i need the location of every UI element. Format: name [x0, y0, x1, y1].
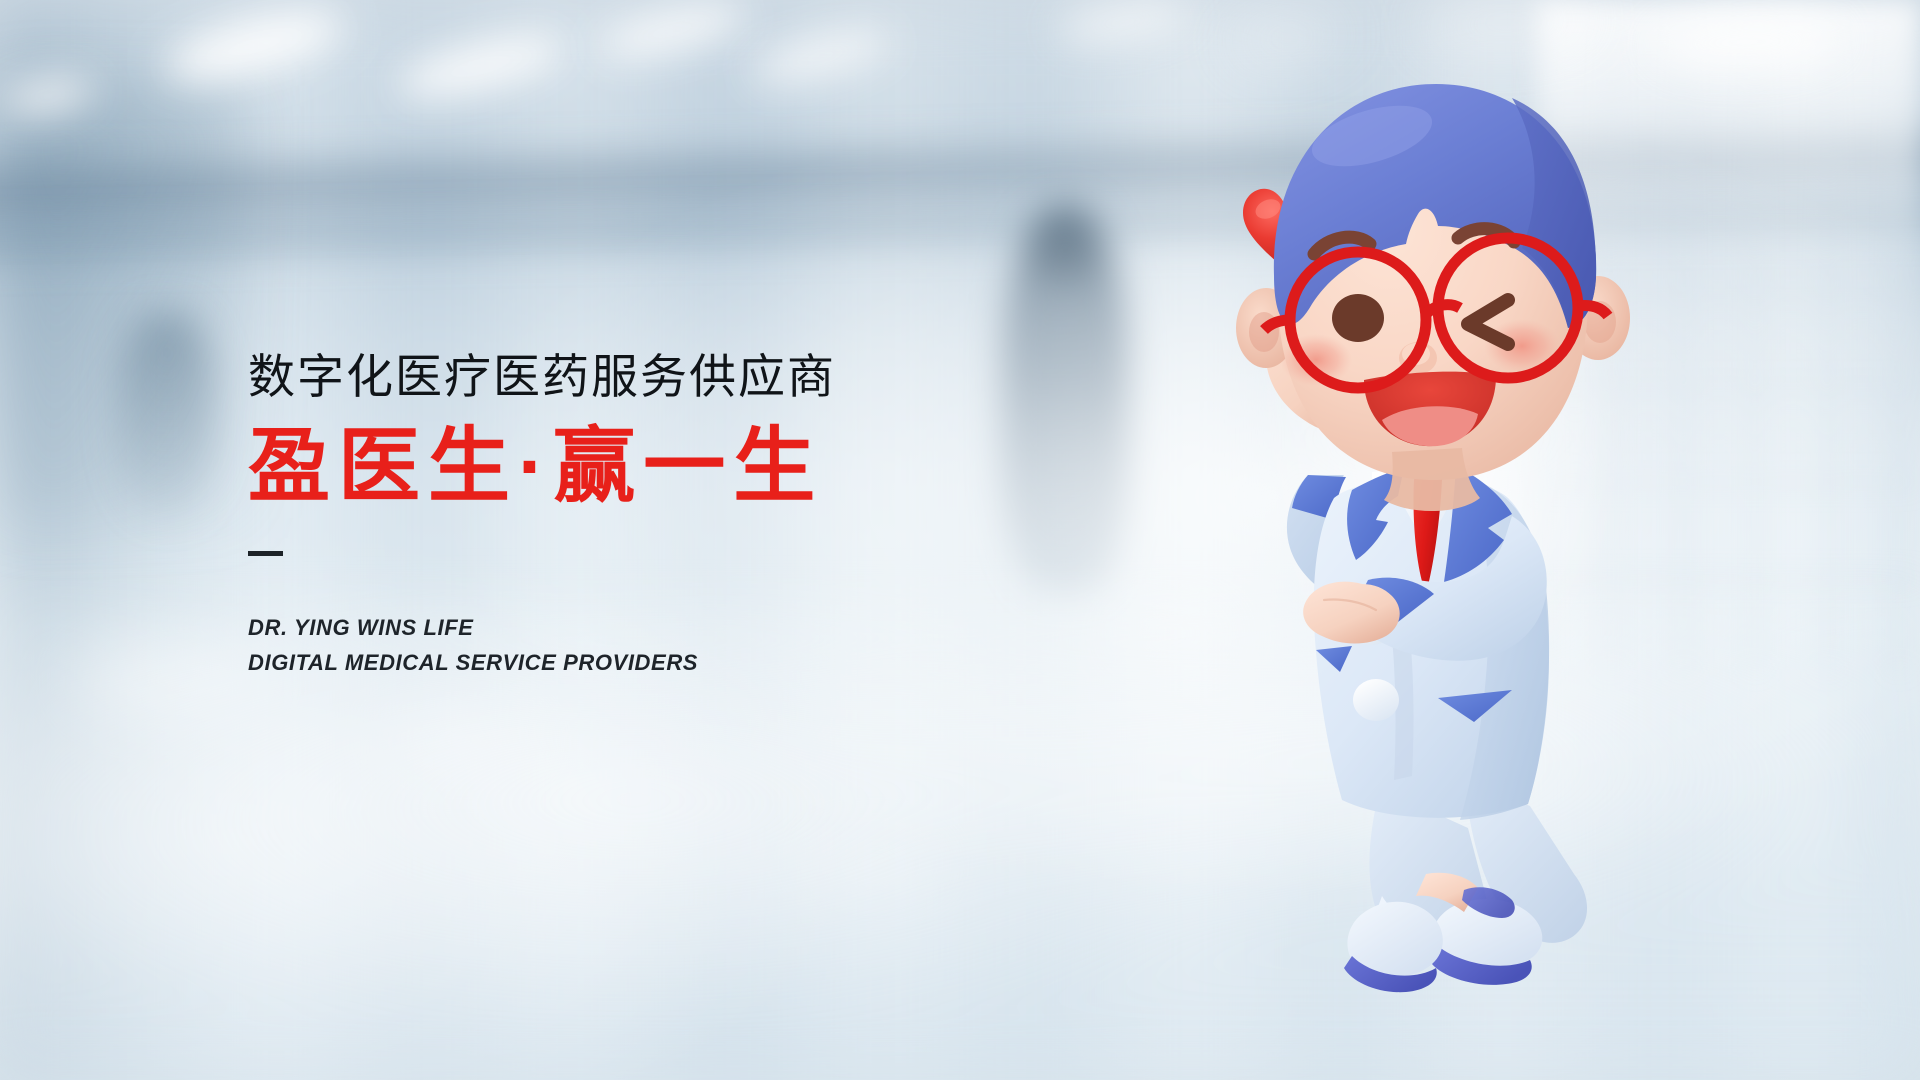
- hero-subtitle: 数字化医疗医药服务供应商: [248, 352, 1068, 402]
- doctor-mascot-illustration: [1212, 28, 1668, 1038]
- hero-headline: 盈医生·赢一生: [248, 424, 1068, 511]
- hero-banner: 数字化医疗医药服务供应商 盈医生·赢一生 DR. YING WINS LIFE …: [0, 0, 1920, 1080]
- head: [1264, 84, 1608, 480]
- hero-english-block: DR. YING WINS LIFE DIGITAL MEDICAL SERVI…: [248, 610, 1068, 681]
- hero-copy-block: 数字化医疗医药服务供应商 盈医生·赢一生 DR. YING WINS LIFE …: [248, 352, 1068, 681]
- coat-button-bottom: [1353, 679, 1399, 721]
- hero-divider-rule: [248, 551, 283, 556]
- hero-english-line-1: DR. YING WINS LIFE: [248, 610, 1068, 646]
- left-eye: [1332, 294, 1384, 342]
- hero-english-line-2: DIGITAL MEDICAL SERVICE PROVIDERS: [248, 645, 1068, 681]
